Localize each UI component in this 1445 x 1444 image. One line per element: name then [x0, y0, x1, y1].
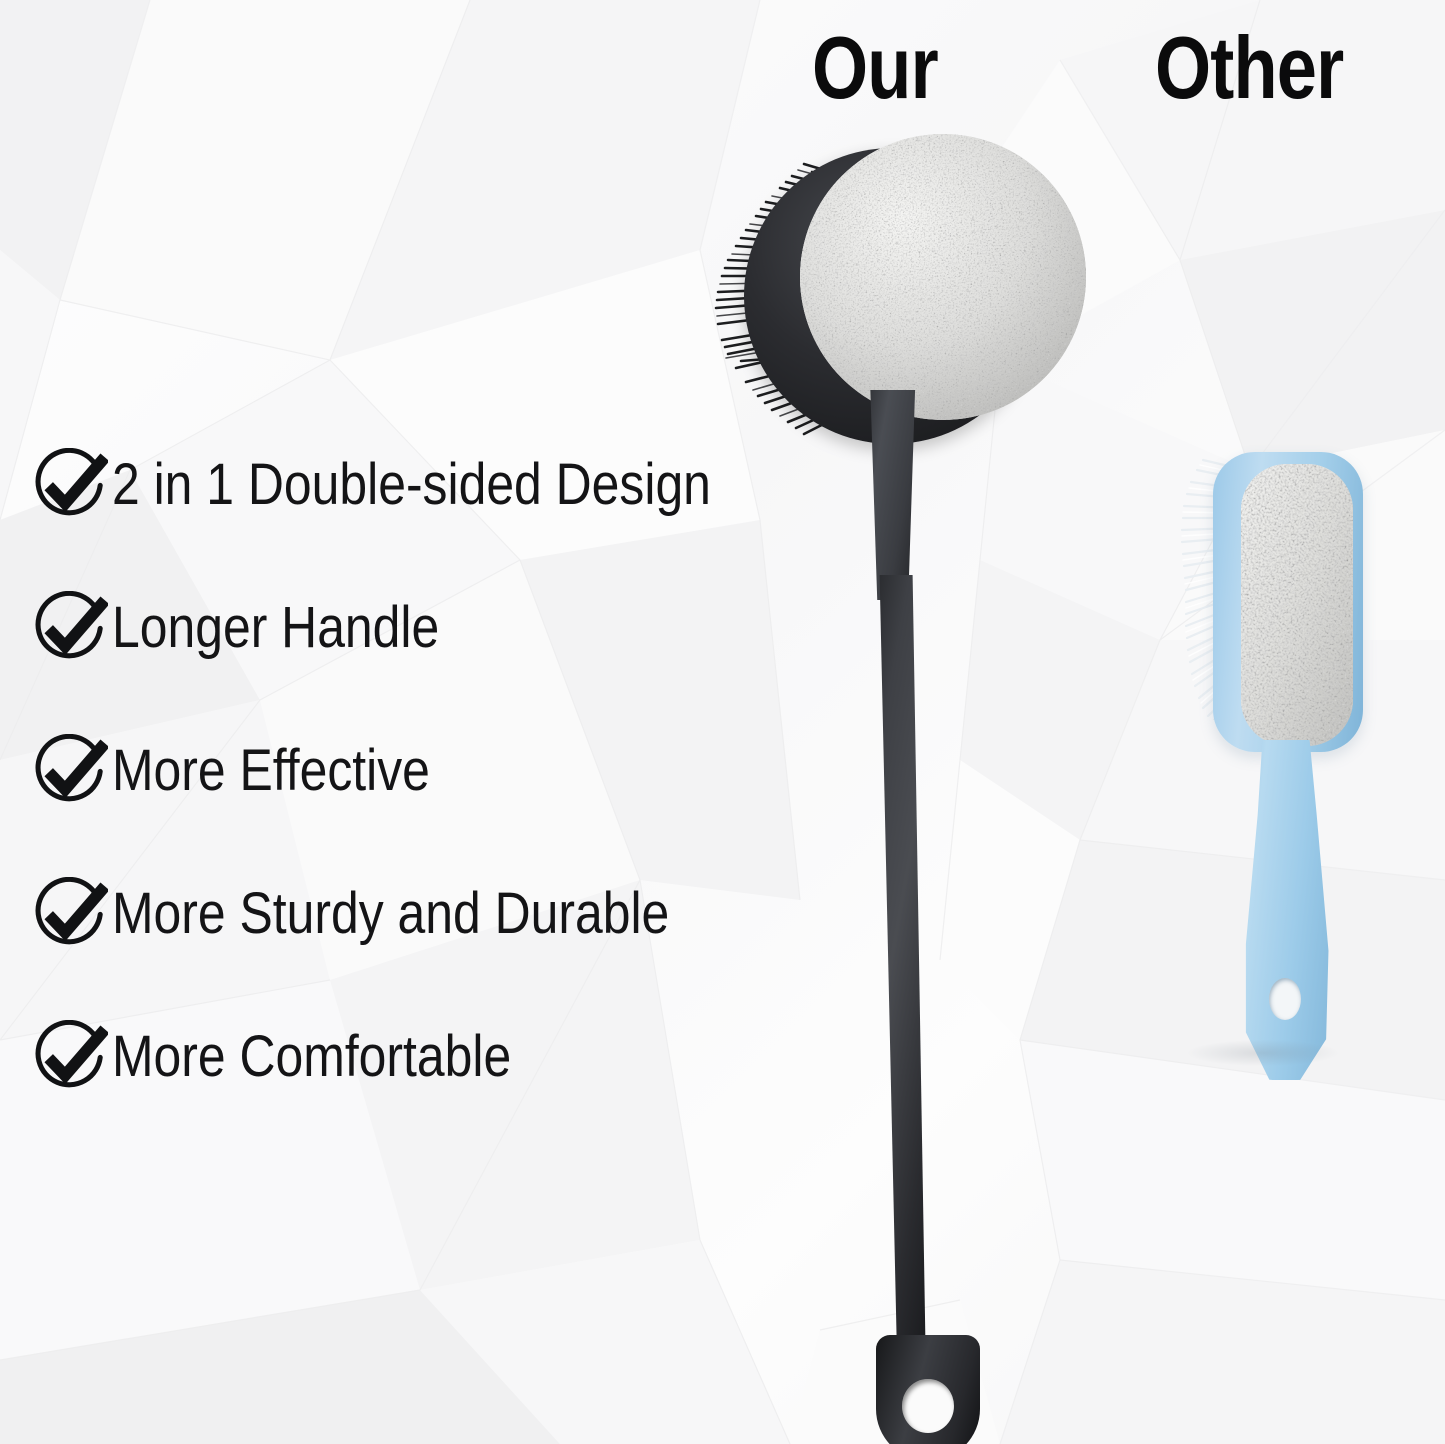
check-circle-icon [30, 448, 108, 526]
feature-label: More Effective [112, 736, 430, 806]
our-product-image [700, 120, 1060, 1440]
heading-other: Other [1155, 24, 1343, 112]
heading-ours: Our [812, 24, 938, 112]
check-circle-icon [30, 734, 108, 812]
check-circle-icon [30, 877, 108, 955]
feature-label: Longer Handle [112, 593, 439, 663]
pumice-stone-pad [800, 134, 1086, 420]
other-handle-grip [1227, 740, 1345, 1080]
other-pumice-pad [1241, 464, 1353, 746]
check-circle-icon [30, 1020, 108, 1098]
other-product-shadow [1188, 1040, 1338, 1066]
feature-label: 2 in 1 Double-sided Design [112, 450, 711, 520]
other-product-image [1175, 440, 1405, 1080]
brush-handle [840, 575, 950, 1365]
hanging-hole [902, 1379, 954, 1433]
other-hanging-hole [1269, 978, 1301, 1020]
check-circle-icon [30, 591, 108, 669]
hanging-tab [868, 1335, 988, 1444]
feature-label: More Comfortable [112, 1022, 511, 1092]
infographic-canvas: Our Other 2 in 1 Double-sided Design Lon… [0, 0, 1445, 1444]
feature-label: More Sturdy and Durable [112, 879, 669, 949]
handle-shaft [840, 575, 950, 1365]
other-brush-handle [1227, 740, 1345, 1080]
